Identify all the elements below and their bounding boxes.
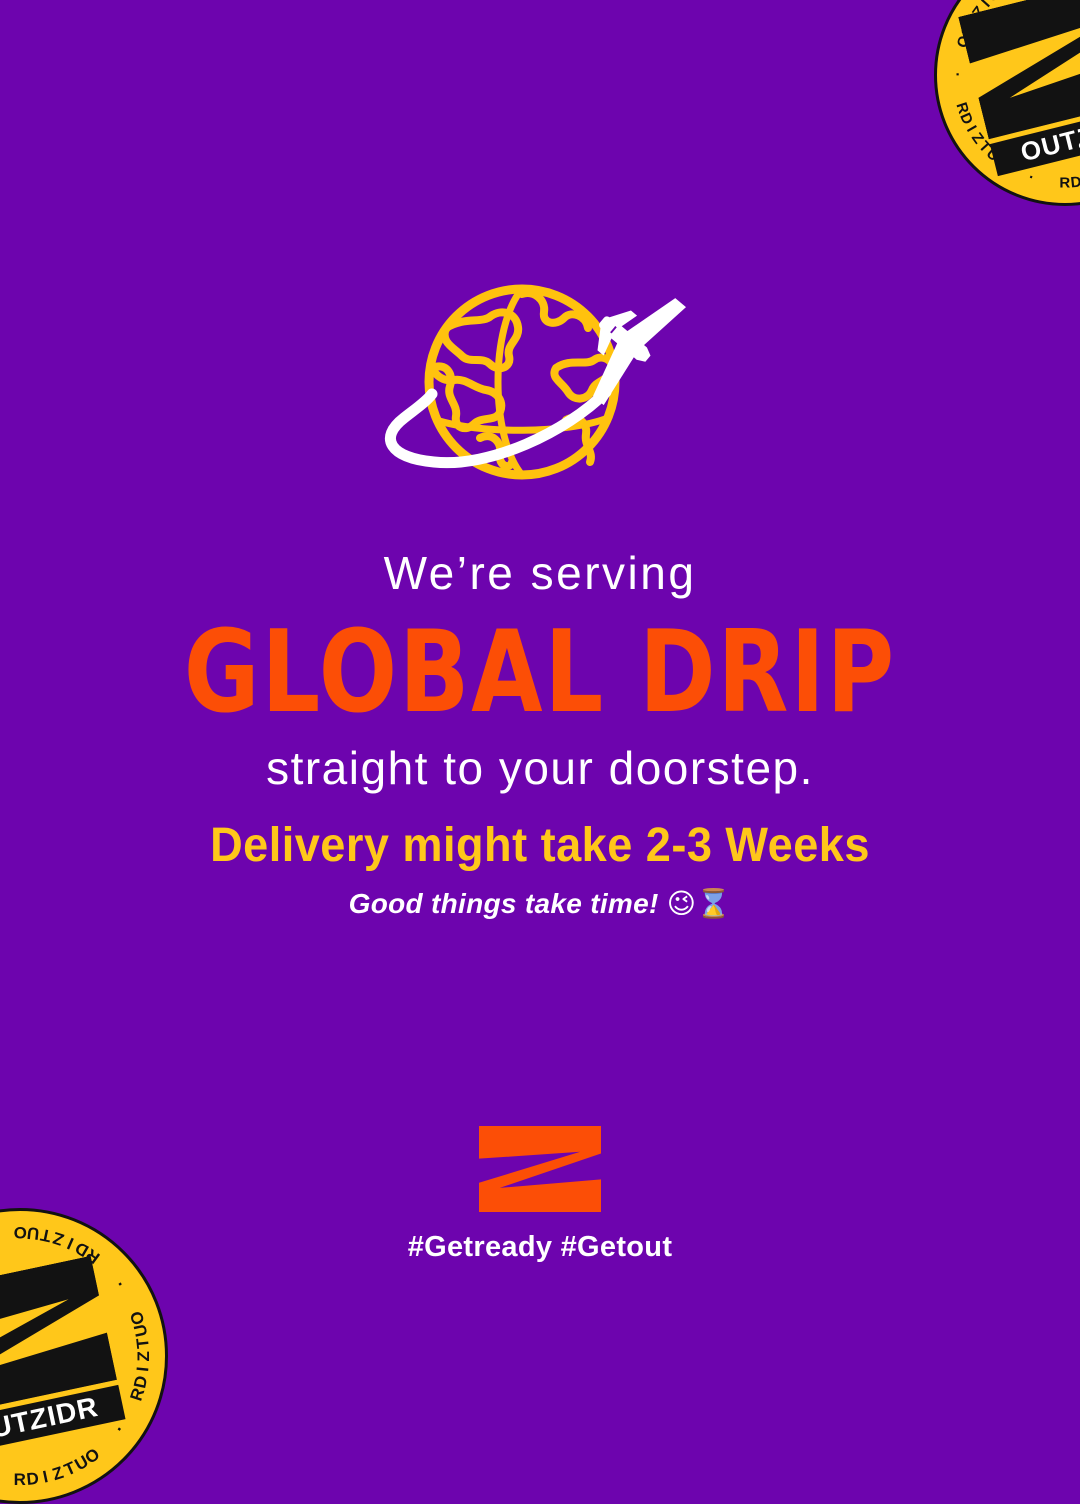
badge-ring-char: D: [26, 1469, 41, 1490]
badge-ring-char: I: [41, 1467, 50, 1488]
globe-with-airplane-icon: [370, 272, 710, 502]
badge-ring-char: R: [14, 1470, 27, 1490]
badge-ring-char: R: [1059, 175, 1070, 192]
badge-ring-char: ·: [949, 72, 966, 78]
badge-ring-char: I: [133, 1365, 153, 1372]
headline-line-3: straight to your doorstep.: [0, 743, 1080, 794]
badge-ring-char: ·: [1026, 169, 1036, 187]
headline-main: GLOBAL DRIP: [22, 607, 1059, 737]
delivery-note-text: Good things take time!: [349, 888, 659, 919]
badge-ring-char: ·: [110, 1421, 130, 1438]
footer-block: #Getready #Getout: [0, 1126, 1080, 1264]
badge-ring-char: D: [1070, 173, 1080, 191]
outzidr-z-logo-icon: [479, 1126, 601, 1212]
delivery-block: Delivery might take 2-3 Weeks Good thing…: [0, 820, 1080, 920]
hero-illustration: [0, 272, 1080, 502]
badge-top-right: OUTZIDR·OUTZIDR·OUTZIDR·OUTZIDR·OUTZIDR·…: [934, 0, 1080, 206]
badge-ring-char: T: [133, 1337, 154, 1350]
footer-tagline: #Getready #Getout: [408, 1231, 673, 1264]
badge-ring-char: Z: [134, 1351, 154, 1362]
badge-ring-char: ·: [110, 1275, 130, 1292]
headline-block: We’re serving GLOBAL DRIP straight to yo…: [0, 548, 1080, 794]
airplane-icon: [561, 272, 689, 408]
delivery-estimate: Delivery might take 2-3 Weeks: [32, 820, 1047, 873]
delivery-note: Good things take time! 😉⌛: [0, 887, 1080, 920]
headline-line-1: We’re serving: [0, 548, 1080, 599]
hourglass-emoji: ⌛: [696, 887, 731, 920]
winking-face-emoji: 😉: [667, 887, 697, 920]
